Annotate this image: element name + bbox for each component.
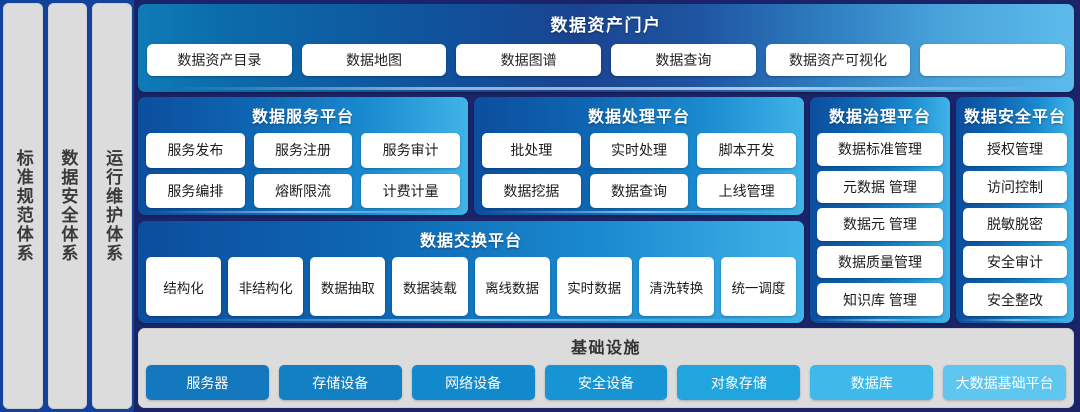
platform-title: 数据服务平台 xyxy=(252,103,354,127)
proc-item-script-dev[interactable]: 脚本开发 xyxy=(697,133,796,168)
infra-item-object-storage[interactable]: 对象存储 xyxy=(677,365,800,400)
infra-item-security-device[interactable]: 安全设备 xyxy=(545,365,668,400)
exch-item-clean-transform[interactable]: 清洗转换 xyxy=(639,257,714,316)
data-governance-platform: 数据治理平台 数据标准管理 元数据 管理 数据元 管理 数据质量管理 知识库 管… xyxy=(810,97,950,323)
grid-row: 结构化 非结构化 数据抽取 数据装载 离线数据 实时数据 清洗转换 统一调度 xyxy=(146,257,796,316)
platform-grid: 结构化 非结构化 数据抽取 数据装载 离线数据 实时数据 清洗转换 统一调度 xyxy=(146,257,796,316)
grid-row: 批处理 实时处理 脚本开发 xyxy=(482,133,796,168)
proc-item-data-query[interactable]: 数据查询 xyxy=(590,174,689,209)
proc-item-release-mgmt[interactable]: 上线管理 xyxy=(697,174,796,209)
proc-item-batch[interactable]: 批处理 xyxy=(482,133,581,168)
exch-item-extract[interactable]: 数据抽取 xyxy=(310,257,385,316)
platform-title: 数据治理平台 xyxy=(829,103,931,127)
sec-item-authorization[interactable]: 授权管理 xyxy=(963,133,1067,166)
infrastructure-title: 基础设施 xyxy=(571,334,641,358)
pillar-data-security[interactable]: 数据安全体系 xyxy=(48,3,88,409)
sec-item-security-rectify[interactable]: 安全整改 xyxy=(963,283,1067,316)
grid-row: 数据挖据 数据查询 上线管理 xyxy=(482,174,796,209)
platforms-top-pair: 数据服务平台 服务发布 服务注册 服务审计 服务编排 熔断限流 计费计量 xyxy=(138,97,804,215)
portal-item-data-map[interactable]: 数据地图 xyxy=(302,44,447,76)
platform-title: 数据交换平台 xyxy=(420,227,522,251)
exch-item-offline-data[interactable]: 离线数据 xyxy=(475,257,550,316)
pillar-label: 数据安全体系 xyxy=(59,149,77,263)
data-asset-portal-section: 数据资产门户 数据资产目录 数据地图 数据图谱 数据查询 数据资产可视化 xyxy=(138,4,1074,92)
exch-item-unified-schedule[interactable]: 统一调度 xyxy=(721,257,796,316)
platform-title: 数据安全平台 xyxy=(964,103,1066,127)
vertical-pillars-group: 标准规范体系 数据安全体系 运行维护体系 xyxy=(0,0,134,412)
platform-title: 数据处理平台 xyxy=(588,103,690,127)
data-service-platform: 数据服务平台 服务发布 服务注册 服务审计 服务编排 熔断限流 计费计量 xyxy=(138,97,468,215)
sec-item-security-audit[interactable]: 安全审计 xyxy=(963,246,1067,279)
infra-item-server[interactable]: 服务器 xyxy=(146,365,269,400)
gov-item-knowledge-base[interactable]: 知识库 管理 xyxy=(817,283,943,316)
infrastructure-items-row: 服务器 存储设备 网络设备 安全设备 对象存储 数据库 大数据基础平台 xyxy=(146,365,1066,400)
pillar-label: 标准规范体系 xyxy=(14,149,32,263)
portal-item-data-query[interactable]: 数据查询 xyxy=(611,44,756,76)
gov-item-metadata[interactable]: 元数据 管理 xyxy=(817,171,943,204)
data-processing-platform: 数据处理平台 批处理 实时处理 脚本开发 数据挖据 数据查询 上线管理 xyxy=(474,97,804,215)
infra-item-bigdata-platform[interactable]: 大数据基础平台 xyxy=(943,365,1066,400)
main-frame: 数据资产门户 数据资产目录 数据地图 数据图谱 数据查询 数据资产可视化 数据服… xyxy=(134,0,1080,412)
portal-title: 数据资产门户 xyxy=(551,11,662,36)
infra-item-database[interactable]: 数据库 xyxy=(810,365,933,400)
governance-items-list: 数据标准管理 元数据 管理 数据元 管理 数据质量管理 知识库 管理 xyxy=(817,133,943,316)
sec-item-access-control[interactable]: 访问控制 xyxy=(963,171,1067,204)
svc-item-orchestration[interactable]: 服务编排 xyxy=(146,174,245,209)
platforms-left-column: 数据服务平台 服务发布 服务注册 服务审计 服务编排 熔断限流 计费计量 xyxy=(138,97,804,323)
architecture-diagram: 标准规范体系 数据安全体系 运行维护体系 数据资产门户 数据资产目录 数据地图 … xyxy=(0,0,1080,412)
grid-row: 服务发布 服务注册 服务审计 xyxy=(146,133,460,168)
svc-item-register[interactable]: 服务注册 xyxy=(254,133,353,168)
platforms-row: 数据服务平台 服务发布 服务注册 服务审计 服务编排 熔断限流 计费计量 xyxy=(138,97,1074,323)
sec-item-desensitization[interactable]: 脱敏脱密 xyxy=(963,208,1067,241)
grid-row: 服务编排 熔断限流 计费计量 xyxy=(146,174,460,209)
gov-item-data-standard[interactable]: 数据标准管理 xyxy=(817,133,943,166)
data-exchange-platform: 数据交换平台 结构化 非结构化 数据抽取 数据装载 离线数据 实时数据 清洗转换… xyxy=(138,221,804,323)
infrastructure-section: 基础设施 服务器 存储设备 网络设备 安全设备 对象存储 数据库 大数据基础平台 xyxy=(138,328,1074,408)
svc-item-publish[interactable]: 服务发布 xyxy=(146,133,245,168)
svc-item-circuit-break[interactable]: 熔断限流 xyxy=(254,174,353,209)
exch-item-realtime-data[interactable]: 实时数据 xyxy=(557,257,632,316)
pillar-standard-specification[interactable]: 标准规范体系 xyxy=(3,3,43,409)
gov-item-data-element[interactable]: 数据元 管理 xyxy=(817,208,943,241)
infra-item-network-device[interactable]: 网络设备 xyxy=(412,365,535,400)
pillar-label: 运行维护体系 xyxy=(103,149,121,263)
svc-item-billing[interactable]: 计费计量 xyxy=(361,174,460,209)
portal-item-empty[interactable] xyxy=(920,44,1065,76)
portal-item-data-graph[interactable]: 数据图谱 xyxy=(456,44,601,76)
exch-item-load[interactable]: 数据装载 xyxy=(392,257,467,316)
portal-items-row: 数据资产目录 数据地图 数据图谱 数据查询 数据资产可视化 xyxy=(147,44,1065,76)
exch-item-unstructured[interactable]: 非结构化 xyxy=(228,257,303,316)
data-security-platform: 数据安全平台 授权管理 访问控制 脱敏脱密 安全审计 安全整改 xyxy=(956,97,1074,323)
proc-item-data-mining[interactable]: 数据挖据 xyxy=(482,174,581,209)
platform-grid: 服务发布 服务注册 服务审计 服务编排 熔断限流 计费计量 xyxy=(146,133,460,208)
portal-item-visualization[interactable]: 数据资产可视化 xyxy=(766,44,911,76)
svc-item-audit[interactable]: 服务审计 xyxy=(361,133,460,168)
platform-grid: 批处理 实时处理 脚本开发 数据挖据 数据查询 上线管理 xyxy=(482,133,796,208)
pillar-operation-maintenance[interactable]: 运行维护体系 xyxy=(92,3,132,409)
infra-item-storage-device[interactable]: 存储设备 xyxy=(279,365,402,400)
portal-item-catalog[interactable]: 数据资产目录 xyxy=(147,44,292,76)
exch-item-structured[interactable]: 结构化 xyxy=(146,257,221,316)
security-items-list: 授权管理 访问控制 脱敏脱密 安全审计 安全整改 xyxy=(963,133,1067,316)
gov-item-data-quality[interactable]: 数据质量管理 xyxy=(817,246,943,279)
proc-item-realtime[interactable]: 实时处理 xyxy=(590,133,689,168)
